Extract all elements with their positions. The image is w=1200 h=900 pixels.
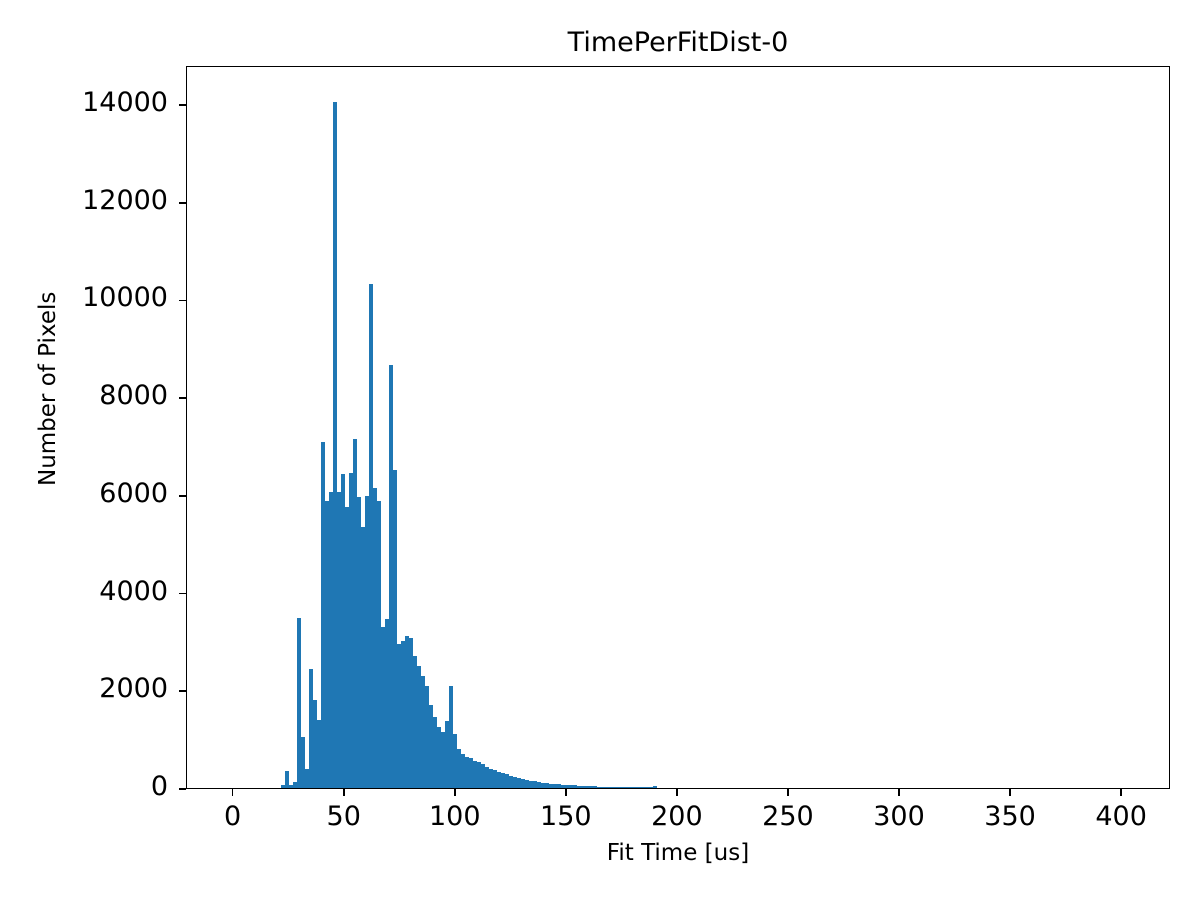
y-axis-tick-label: 10000 (0, 282, 168, 313)
y-axis-tick-mark (179, 788, 186, 790)
y-axis-tick-label: 4000 (0, 576, 168, 607)
y-axis-tick-label: 12000 (0, 185, 168, 216)
x-axis-label: Fit Time [us] (186, 840, 1170, 866)
plot-area (186, 66, 1170, 789)
x-axis-tick-label: 0 (173, 801, 293, 832)
x-axis-tick-mark (454, 789, 456, 796)
y-axis-tick-label: 0 (0, 771, 168, 802)
y-axis-tick-mark (179, 690, 186, 692)
y-axis-tick-mark (179, 495, 186, 497)
y-axis-tick-label: 8000 (0, 380, 168, 411)
x-axis-tick-mark (898, 789, 900, 796)
histogram-bars (187, 67, 1169, 788)
y-axis-tick-label: 2000 (0, 673, 168, 704)
x-axis-tick-label: 350 (950, 801, 1070, 832)
x-axis-tick-mark (565, 789, 567, 796)
x-axis-tick-label: 300 (839, 801, 959, 832)
y-axis-tick-label: 14000 (0, 87, 168, 118)
x-axis-tick-mark (787, 789, 789, 796)
y-axis-tick-mark (179, 397, 186, 399)
x-axis-tick-mark (676, 789, 678, 796)
histogram-figure: TimePerFitDist-0 02000400060008000100001… (0, 0, 1200, 900)
x-axis-tick-label: 50 (284, 801, 404, 832)
y-axis-tick-mark (179, 202, 186, 204)
x-axis-tick-mark (1120, 789, 1122, 796)
x-axis-tick-mark (343, 789, 345, 796)
y-axis-tick-mark (179, 300, 186, 302)
y-axis-tick-mark (179, 593, 186, 595)
x-axis-tick-mark (232, 789, 234, 796)
x-axis-tick-label: 150 (506, 801, 626, 832)
y-axis-label: Number of Pixels (35, 366, 61, 486)
x-axis-tick-mark (1009, 789, 1011, 796)
x-axis-tick-label: 100 (395, 801, 515, 832)
histogram-bar (653, 786, 657, 788)
page-title: TimePerFitDist-0 (186, 26, 1170, 60)
y-axis-tick-label: 6000 (0, 478, 168, 509)
y-axis-tick-mark (179, 104, 186, 106)
x-axis-tick-label: 400 (1061, 801, 1181, 832)
x-axis-tick-label: 250 (728, 801, 848, 832)
x-axis-tick-label: 200 (617, 801, 737, 832)
